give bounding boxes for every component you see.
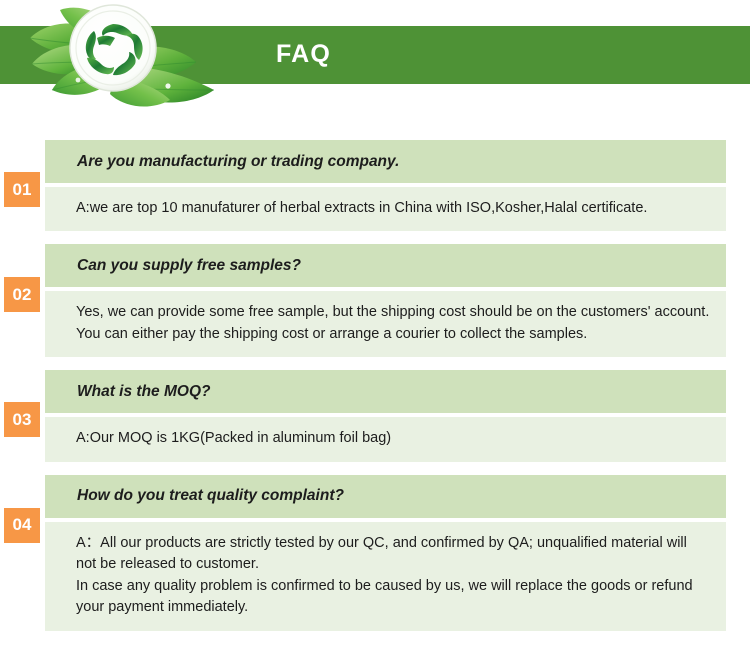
faq-item: 01 Are you manufacturing or trading comp… (0, 140, 750, 231)
faq-answer-line: A:we are top 10 manufaturer of herbal ex… (76, 198, 710, 219)
faq-answer: A:we are top 10 manufaturer of herbal ex… (45, 187, 726, 231)
faq-question[interactable]: Can you supply free samples? (45, 244, 726, 287)
faq-body: Are you manufacturing or trading company… (45, 140, 726, 231)
faq-number-badge: 02 (4, 277, 40, 312)
faq-answer-line: A：All our products are strictly tested b… (76, 533, 710, 576)
faq-body: Can you supply free samples? Yes, we can… (45, 244, 726, 357)
faq-number-badge: 04 (4, 508, 40, 543)
faq-body: What is the MOQ? A:Our MOQ is 1KG(Packed… (45, 370, 726, 461)
faq-answer-line: In case any quality problem is confirmed… (76, 576, 710, 619)
faq-item: 03 What is the MOQ? A:Our MOQ is 1KG(Pac… (0, 370, 750, 461)
faq-number-badge: 03 (4, 402, 40, 437)
faq-answer-line: Yes, we can provide some free sample, bu… (76, 302, 710, 345)
faq-item: 02 Can you supply free samples? Yes, we … (0, 244, 750, 357)
faq-answer: Yes, we can provide some free sample, bu… (45, 291, 726, 357)
logo-disc (70, 5, 156, 91)
faq-number-badge: 01 (4, 172, 40, 207)
faq-item: 04 How do you treat quality complaint? A… (0, 475, 750, 631)
faq-list: 01 Are you manufacturing or trading comp… (0, 140, 750, 644)
leaf-circle-logo (18, 2, 228, 114)
page-header: FAQ (0, 0, 750, 120)
faq-question[interactable]: How do you treat quality complaint? (45, 475, 726, 518)
faq-body: How do you treat quality complaint? A：Al… (45, 475, 726, 631)
faq-answer: A：All our products are strictly tested b… (45, 522, 726, 631)
faq-answer: A:Our MOQ is 1KG(Packed in aluminum foil… (45, 417, 726, 461)
faq-answer-line: A:Our MOQ is 1KG(Packed in aluminum foil… (76, 428, 710, 449)
page-title: FAQ (276, 40, 331, 69)
faq-question[interactable]: Are you manufacturing or trading company… (45, 140, 726, 183)
faq-question[interactable]: What is the MOQ? (45, 370, 726, 413)
